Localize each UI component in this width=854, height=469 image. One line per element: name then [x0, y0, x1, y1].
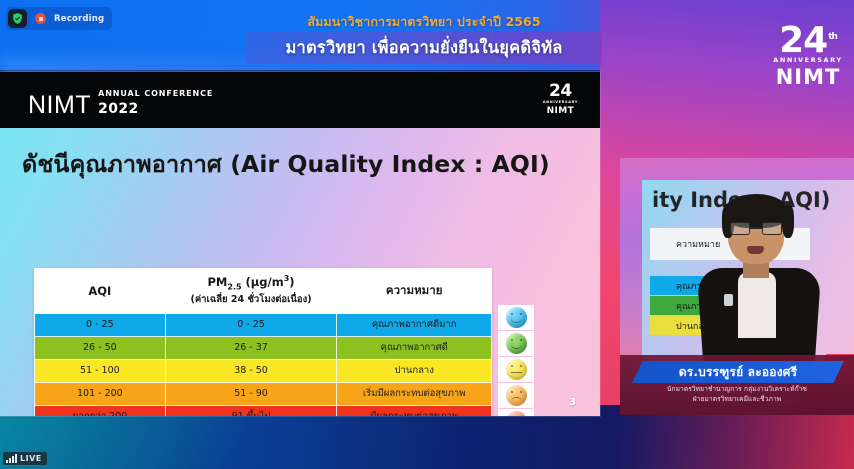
speaker-role-line1: นักมาตรวิทยาชำนาญการ กลุ่มงานวิเคราะห์ก๊…	[626, 385, 848, 395]
shield-check-icon	[8, 9, 27, 28]
signal-bars-icon	[6, 454, 17, 463]
aqi-face-legend	[498, 305, 534, 416]
recording-label: Recording	[54, 14, 104, 24]
conference-line1: ANNUAL CONFERENCE	[98, 89, 213, 98]
cell-aqi: 51 - 100	[35, 360, 166, 383]
face-cell	[498, 409, 534, 416]
mouth	[747, 246, 764, 254]
cell-meaning: เริ่มมีผลกระทบต่อสุขภาพ	[337, 383, 492, 406]
aqi-header-row: AQI PM2.5 (µg/m3) (ค่าเฉลี่ย 24 ชั่วโมงต…	[35, 269, 492, 314]
aqi-table-head: AQI PM2.5 (µg/m3) (ค่าเฉลี่ย 24 ชั่วโมงต…	[35, 269, 492, 314]
cell-aqi: 26 - 50	[35, 337, 166, 360]
happy-face-icon	[506, 333, 527, 354]
slide-header-bar: NIMT ANNUAL CONFERENCE 2022 24 ANNIVERSA…	[0, 72, 600, 128]
cell-pm: 91 ขึ้นไป	[165, 406, 337, 416]
event-subtitle: สัมมนาวิชาการมาตรวิทยา ประจำปี 2565	[246, 12, 602, 32]
anniversary-logo: 24th ANNIVERSARY NIMT	[770, 20, 846, 106]
cell-meaning: คุณภาพอากาศดี	[337, 337, 492, 360]
face-cell	[498, 305, 534, 330]
face-cell	[498, 383, 534, 408]
hair-side-right	[782, 204, 794, 238]
nimt-wordmark: NIMT	[28, 93, 91, 117]
face-cell	[498, 357, 534, 382]
cell-aqi: 0 - 25	[35, 314, 166, 337]
live-indicator[interactable]: LIVE	[3, 452, 47, 465]
aqi-table-body: 0 - 25 0 - 25 คุณภาพอากาศดีมาก 26 - 50 2…	[35, 314, 492, 416]
table-row: 26 - 50 26 - 37 คุณภาพอากาศดี	[35, 337, 492, 360]
table-row: มากกว่า 200 91 ขึ้นไป มีผลกระทบต่อสุขภาพ	[35, 406, 492, 416]
speaker-name-banner: ดร.บรรฑูรย์ ละอองศรี	[632, 361, 844, 383]
nimt-conference-meta: ANNUAL CONFERENCE 2022	[98, 83, 213, 118]
slide-page-number: 3	[569, 397, 576, 408]
anniversary-ordinal: th	[828, 32, 837, 42]
cell-aqi: มากกว่า 200	[35, 406, 166, 416]
cell-pm: 51 - 90	[165, 383, 337, 406]
slide-badge-org: NIMT	[543, 107, 578, 116]
presentation-slide[interactable]: NIMT ANNUAL CONFERENCE 2022 24 ANNIVERSA…	[0, 72, 600, 416]
slide-badge-word: ANNIVERSARY	[543, 101, 578, 105]
anniversary-org: NIMT	[770, 65, 846, 89]
header-pm25-main: PM2.5 (µg/m3)	[208, 275, 295, 289]
happy-face-icon	[506, 307, 527, 328]
header-pm25-sub: (ค่าเฉลี่ย 24 ชั่วโมงต่อเนื่อง)	[170, 292, 333, 307]
cell-pm: 0 - 25	[165, 314, 337, 337]
cell-meaning: ปานกลาง	[337, 360, 492, 383]
cell-pm: 26 - 37	[165, 337, 337, 360]
speaker-nameplate: ดร.บรรฑูรย์ ละอองศรี นักมาตรวิทยาชำนาญกา…	[620, 355, 854, 415]
cell-aqi: 101 - 200	[35, 383, 166, 406]
stop-record-icon[interactable]	[35, 13, 46, 24]
sad-face-icon	[506, 385, 527, 406]
cell-meaning: มีผลกระทบต่อสุขภาพ	[337, 406, 492, 416]
sad-face-icon	[506, 411, 527, 416]
slide-badge-number: 24	[543, 83, 578, 100]
glasses-icon	[730, 222, 782, 235]
speaker-name: ดร.บรรฑูรย์ ละอองศรี	[679, 363, 797, 382]
table-row: 51 - 100 38 - 50 ปานกลาง	[35, 360, 492, 383]
conference-line2: 2022	[98, 101, 139, 117]
shirt	[738, 272, 776, 338]
stream-viewport: Recording สัมมนาวิชาการมาตรวิทยา ประจำปี…	[0, 0, 854, 469]
face-cell	[498, 331, 534, 356]
slide-content: ดัชนีคุณภาพอากาศ (Air Quality Index : AQ…	[0, 128, 600, 416]
event-title: มาตรวิทยา เพื่อความยั่งยืนในยุคดิจิทัล	[285, 35, 562, 61]
table-row: 0 - 25 0 - 25 คุณภาพอากาศดีมาก	[35, 314, 492, 337]
slide-anniversary-badge: 24 ANNIVERSARY NIMT	[543, 83, 578, 116]
table-row: 101 - 200 51 - 90 เริ่มมีผลกระทบต่อสุขภา…	[35, 383, 492, 406]
header-aqi: AQI	[35, 269, 166, 314]
nimt-logo: NIMT ANNUAL CONFERENCE 2022	[28, 83, 213, 118]
header-pm25: PM2.5 (µg/m3) (ค่าเฉลี่ย 24 ชั่วโมงต่อเน…	[165, 269, 337, 314]
neutral-face-icon	[506, 359, 527, 380]
header-meaning: ความหมาย	[337, 269, 492, 314]
live-label: LIVE	[20, 454, 42, 463]
speaker-role-line2: ฝ่ายมาตรวิทยาเคมีและชีวภาพ	[626, 395, 848, 405]
anniversary-number: 24	[779, 20, 827, 61]
slide-title: ดัชนีคุณภาพอากาศ (Air Quality Index : AQ…	[22, 146, 550, 183]
cell-pm: 38 - 50	[165, 360, 337, 383]
aqi-table: AQI PM2.5 (µg/m3) (ค่าเฉลี่ย 24 ชั่วโมงต…	[34, 268, 492, 416]
recording-badge[interactable]: Recording	[6, 7, 112, 30]
lapel-pin	[724, 294, 733, 306]
event-title-banner: มาตรวิทยา เพื่อความยั่งยืนในยุคดิจิทัล	[246, 31, 602, 64]
speaker-role: นักมาตรวิทยาชำนาญการ กลุ่มงานวิเคราะห์ก๊…	[626, 385, 848, 405]
speaker-video-tile[interactable]: ity Index : AQI) ความหมาย คุณภาพอากาศดีม…	[620, 158, 854, 415]
anniversary-number-group: 24th	[779, 20, 837, 58]
speaker-figure	[698, 190, 818, 366]
cell-meaning: คุณภาพอากาศดีมาก	[337, 314, 492, 337]
